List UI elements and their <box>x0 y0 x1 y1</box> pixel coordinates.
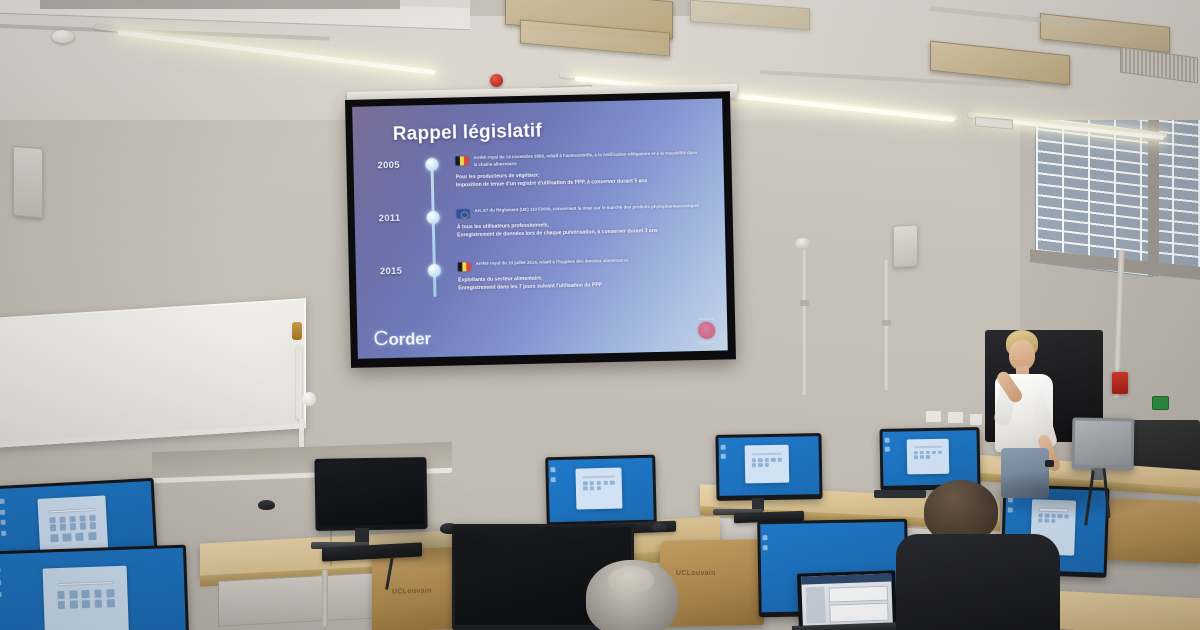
start-menu-tile[interactable] <box>69 591 77 599</box>
monitor-taskbar[interactable] <box>885 438 891 468</box>
fire-alarm-call-point[interactable] <box>1112 372 1128 394</box>
monitor-row2-b <box>715 433 822 501</box>
scene-shadow-1 <box>330 520 510 570</box>
slide-timeline: 2005 Arrêté royal du 14 novembre 2003, r… <box>369 150 712 308</box>
start-menu-tile[interactable] <box>920 455 924 459</box>
start-menu-tile[interactable] <box>752 463 756 467</box>
start-menu-tile[interactable] <box>920 451 924 455</box>
belgium-flag-icon <box>458 262 471 271</box>
start-menu-recommended[interactable] <box>50 532 97 543</box>
start-menu-tile[interactable] <box>49 517 56 524</box>
wall-outlet-3[interactable] <box>969 413 983 426</box>
timeline-year-label: 2015 <box>380 266 403 278</box>
monitor-presenter-desk <box>1072 417 1135 470</box>
start-menu-tile[interactable] <box>89 515 96 522</box>
taskbar-icon[interactable] <box>550 468 555 473</box>
taskbar-icon[interactable] <box>0 593 2 598</box>
timeline-entry-2015: 2015 Arrêté royal du 13 juillet 2014, re… <box>372 256 712 264</box>
timeline-entry-2011: 2011 Art. 67 du Règlement (UE) 1107/2009… <box>371 203 711 211</box>
ceiling-camera-dome <box>795 238 811 249</box>
mouse-on-ledge[interactable] <box>258 500 275 510</box>
wall-speaker-right <box>893 224 918 268</box>
whiteboard-clip <box>292 322 302 340</box>
taskbar-icon[interactable] <box>0 509 5 514</box>
timeline-entry-2005: 2005 Arrêté royal du 14 novembre 2003, r… <box>369 150 709 158</box>
projection-screen-surface: Rappel législatif 2005 Arrêté royal du 1… <box>352 98 728 358</box>
start-menu-search-box[interactable] <box>752 453 782 456</box>
timeline-content: Art. 67 du Règlement (UE) 1107/2009, con… <box>456 203 703 240</box>
start-menu-tile[interactable] <box>69 516 76 523</box>
start-menu-tile[interactable] <box>60 524 67 531</box>
whiteboard-arm-vertical <box>296 345 302 419</box>
start-menu-app-grid[interactable] <box>49 515 96 530</box>
monitor-screen[interactable] <box>718 436 819 496</box>
monitor-left-front <box>0 545 190 630</box>
attendee-center <box>578 560 688 630</box>
wall-outlet-2[interactable] <box>947 411 964 424</box>
law-reference-row: Arrêté royal du 14 novembre 2003, relati… <box>455 150 701 169</box>
windows-start-menu[interactable] <box>575 467 622 509</box>
start-menu-tile[interactable] <box>590 481 594 485</box>
start-menu-tile[interactable] <box>583 486 587 490</box>
partner-logo-caption: UCLouvain <box>699 340 716 344</box>
slide-footer: Corder Membre de UCLouvain <box>373 317 716 352</box>
start-menu-tile[interactable] <box>107 599 115 607</box>
start-menu-tile[interactable] <box>63 533 72 542</box>
laptop-app-card[interactable] <box>829 602 888 622</box>
windows-start-menu[interactable] <box>745 445 790 484</box>
laptop-screen-content[interactable] <box>801 573 893 626</box>
start-menu-tile[interactable] <box>765 458 769 462</box>
law-reference-row: Arrêté royal du 13 juillet 2014, relatif… <box>458 256 704 272</box>
monitor-taskbar[interactable] <box>721 445 727 478</box>
start-menu-tile[interactable] <box>610 480 614 484</box>
taskbar-icon[interactable] <box>885 438 890 443</box>
law-reference-text: Arrêté royal du 14 novembre 2003, relati… <box>473 150 701 168</box>
monitor-screen[interactable] <box>1075 421 1132 466</box>
start-menu-tile[interactable] <box>597 481 601 485</box>
start-menu-tile[interactable] <box>597 486 601 490</box>
start-menu-tile[interactable] <box>926 451 930 455</box>
ceiling-alarm-light <box>490 74 503 87</box>
desk-leg-1 <box>322 570 328 626</box>
scene-shadow-2 <box>960 470 1160 520</box>
timeline-dot <box>427 211 440 224</box>
start-menu-tile[interactable] <box>932 450 936 454</box>
start-menu-tile[interactable] <box>914 451 918 455</box>
taskbar-icon[interactable] <box>1 531 6 536</box>
monitor-taskbar[interactable] <box>550 468 556 503</box>
windows-start-menu[interactable] <box>37 495 108 554</box>
taskbar-icon[interactable] <box>0 580 1 585</box>
slide-title: Rappel législatif <box>393 117 709 146</box>
start-menu-app-grid[interactable] <box>57 590 115 608</box>
start-menu-search-box[interactable] <box>49 508 95 513</box>
timeline-axis <box>430 164 436 297</box>
attendee-right-torso <box>896 534 1060 630</box>
corder-logo-initial: C <box>373 327 389 351</box>
start-menu-tile[interactable] <box>603 481 607 485</box>
start-menu-tile[interactable] <box>771 458 775 462</box>
law-description: À tous les utilisateurs professionnels, … <box>457 218 703 240</box>
laptop-app-sidebar[interactable] <box>805 587 826 624</box>
start-menu-tile[interactable] <box>75 532 84 541</box>
taskbar-icon[interactable] <box>0 499 5 504</box>
corder-logo: Corder <box>373 326 431 351</box>
partner-logo-mark <box>698 322 715 339</box>
timeline-year-label: 2005 <box>377 160 400 172</box>
start-menu-search-box[interactable] <box>57 581 114 586</box>
monitor-screen[interactable] <box>0 548 187 630</box>
mouse-row2-a[interactable] <box>652 523 667 532</box>
partner-logo-top-caption: Membre de <box>698 317 715 321</box>
laptop-screen[interactable] <box>797 570 897 629</box>
presentation-slide: Rappel législatif 2005 Arrêté royal du 1… <box>352 98 728 358</box>
law-reference-text: Arrêté royal du 13 juillet 2014, relatif… <box>476 258 629 268</box>
monitor-screen[interactable] <box>548 458 653 523</box>
windows-start-menu[interactable] <box>43 565 129 630</box>
conduit-clip-2 <box>882 320 891 326</box>
start-menu-tile[interactable] <box>79 515 86 522</box>
start-menu-tile[interactable] <box>50 524 57 531</box>
taskbar-icon[interactable] <box>551 477 556 482</box>
corder-logo-text: order <box>388 329 431 350</box>
start-menu-tile[interactable] <box>79 523 86 530</box>
start-menu-tile[interactable] <box>88 532 97 541</box>
start-menu-tile[interactable] <box>59 516 66 523</box>
smoke-detector <box>52 30 74 43</box>
taskbar-icon[interactable] <box>721 445 726 450</box>
law-reference-text: Art. 67 du Règlement (UE) 1107/2009, con… <box>474 203 699 215</box>
monitor-taskbar[interactable] <box>0 568 3 630</box>
presenter-watch <box>1045 460 1054 467</box>
emergency-sign <box>1152 396 1169 410</box>
start-menu-tile[interactable] <box>57 601 65 609</box>
windows-start-menu[interactable] <box>907 438 949 474</box>
taskbar-icon[interactable] <box>0 520 5 525</box>
start-menu-tile[interactable] <box>50 534 59 543</box>
taskbar-icon[interactable] <box>885 447 890 452</box>
start-menu-tile[interactable] <box>82 600 90 608</box>
eu-flag-icon <box>457 209 470 218</box>
start-menu-app-grid[interactable] <box>752 458 782 467</box>
timeline-year-label: 2011 <box>379 213 401 224</box>
attendee-center-bald-spot <box>608 566 654 594</box>
start-menu-tile[interactable] <box>752 458 756 462</box>
start-menu-tile[interactable] <box>94 590 102 598</box>
start-menu-tile[interactable] <box>758 458 762 462</box>
start-menu-tile[interactable] <box>82 590 90 598</box>
timeline-content: Arrêté royal du 14 novembre 2003, relati… <box>455 150 702 190</box>
start-menu-tile[interactable] <box>57 591 65 599</box>
wall-conduit-vertical-1 <box>802 250 807 395</box>
projection-screen: Rappel législatif 2005 Arrêté royal du 1… <box>345 91 736 368</box>
start-menu-tile[interactable] <box>778 458 782 462</box>
partner-logo: Membre de UCLouvain <box>698 317 716 344</box>
taskbar-icon[interactable] <box>721 454 726 459</box>
chair-logo-label: UCLouvain <box>392 587 432 595</box>
law-description: Exploitants du secteur alimentaire, Enre… <box>458 271 704 293</box>
monitor-taskbar[interactable] <box>762 535 768 584</box>
ceiling-recess-left <box>40 0 400 9</box>
law-reference-row: Art. 67 du Règlement (UE) 1107/2009, con… <box>456 203 702 219</box>
start-menu-app-grid[interactable] <box>914 450 942 458</box>
start-menu-tile[interactable] <box>70 523 77 530</box>
laptop-app-header <box>801 573 891 584</box>
laptop-app-card[interactable] <box>829 585 888 602</box>
start-menu-tile[interactable] <box>590 486 594 490</box>
timeline-content: Arrêté royal du 13 juillet 2014, relatif… <box>458 256 705 293</box>
start-menu-tile[interactable] <box>583 481 587 485</box>
start-menu-search-box[interactable] <box>583 476 614 479</box>
conduit-clip-1 <box>800 300 809 306</box>
start-menu-tile[interactable] <box>758 463 762 467</box>
wall-outlet-1[interactable] <box>925 410 942 423</box>
start-menu-tile[interactable] <box>106 590 114 598</box>
timeline-dot <box>428 264 441 277</box>
belgium-flag-icon <box>455 156 468 165</box>
classroom-scene: Rappel législatif 2005 Arrêté royal du 1… <box>0 0 1200 630</box>
start-menu-search-box[interactable] <box>914 446 942 448</box>
taskbar-icon[interactable] <box>763 546 768 551</box>
start-menu-tile[interactable] <box>765 463 769 467</box>
timeline-dot <box>425 158 438 171</box>
start-menu-app-grid[interactable] <box>583 480 614 489</box>
taskbar-icon[interactable] <box>0 568 1 573</box>
monitor-screen[interactable] <box>317 460 424 526</box>
monitor-taskbar[interactable] <box>0 499 7 546</box>
wall-speaker-left <box>13 146 43 219</box>
law-description: Pour les producteurs de végétaux; Imposi… <box>456 168 702 190</box>
start-menu-tile[interactable] <box>938 450 942 454</box>
start-menu-tile[interactable] <box>89 522 96 529</box>
start-menu-tile[interactable] <box>926 455 930 459</box>
start-menu-tile[interactable] <box>70 600 78 608</box>
whiteboard-knob <box>302 392 316 406</box>
taskbar-icon[interactable] <box>762 535 767 540</box>
start-menu-tile[interactable] <box>94 599 102 607</box>
start-menu-tile[interactable] <box>914 455 918 459</box>
monitor-row2-a <box>545 455 657 528</box>
